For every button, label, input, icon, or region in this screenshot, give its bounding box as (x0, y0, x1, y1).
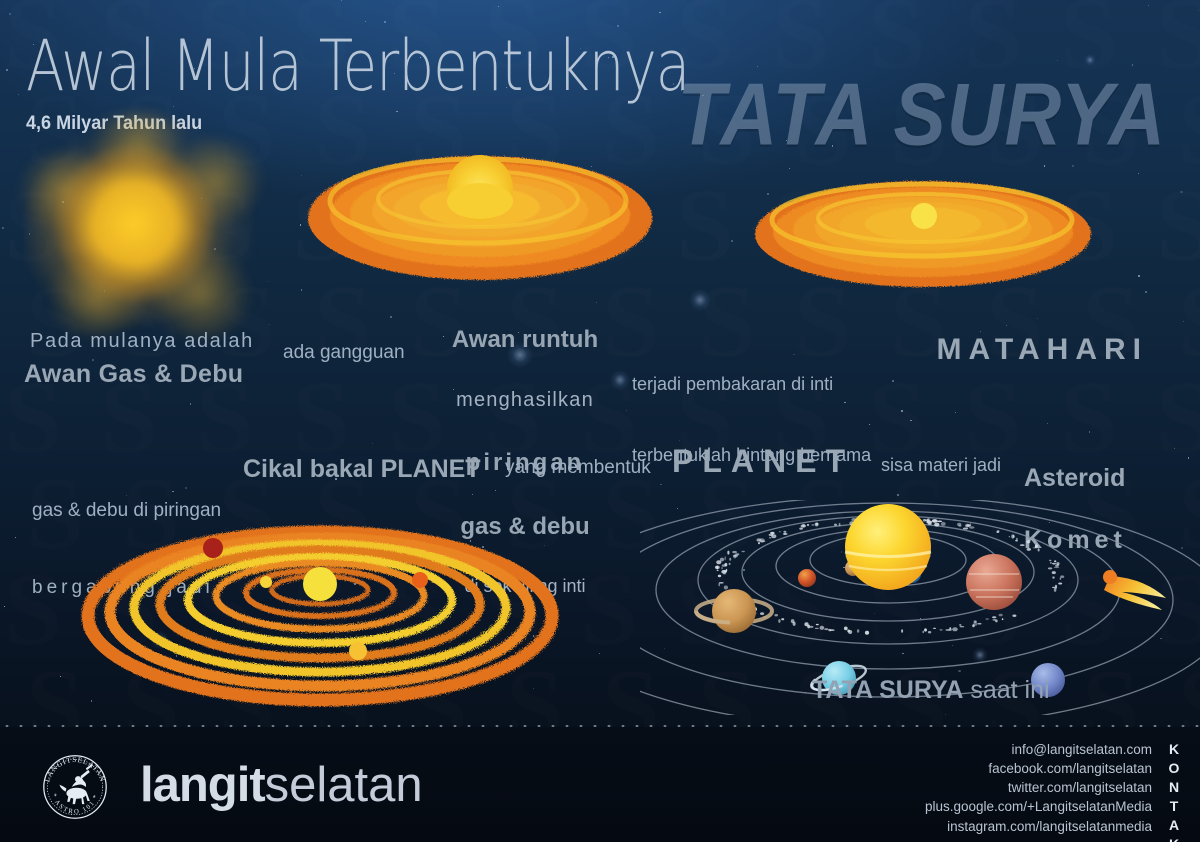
star (365, 21, 366, 22)
stage7-label-asteroid: Asteroid (1024, 464, 1127, 493)
asteroid (729, 558, 731, 561)
asteroid (1060, 575, 1064, 578)
asteroid (770, 532, 774, 535)
gas-cloud-illustration (24, 120, 254, 335)
star (1183, 321, 1184, 322)
asteroid (1015, 540, 1018, 541)
asteroid (940, 629, 943, 630)
infographic-poster: SSSSSSSSSSSSSSSSSSSSSSSSSSSSSSSSSSSSSSSS… (0, 0, 1200, 842)
star (9, 13, 11, 15)
asteroid (717, 565, 718, 569)
star (789, 168, 790, 169)
asteroid (926, 520, 932, 523)
asteroid (963, 528, 968, 530)
asteroid (1050, 562, 1052, 564)
asteroid (1009, 536, 1010, 537)
kontak-vertical-label: KONTAK (1166, 740, 1182, 842)
system-caption: TATA SURYA saat ini (812, 676, 1050, 705)
asteroid (781, 618, 784, 620)
star (6, 69, 8, 71)
asteroid (928, 631, 931, 633)
contact-line-3[interactable]: twitter.com/langitselatan (925, 778, 1152, 797)
asteroid (1002, 618, 1004, 620)
asteroid (778, 619, 780, 623)
kontak-letter-5: K (1166, 835, 1182, 842)
asteroid (727, 551, 729, 555)
asteroid (742, 551, 745, 552)
asteroid (1052, 563, 1056, 565)
protoplanet-orange (412, 572, 428, 588)
star (2, 227, 4, 229)
asteroid (799, 528, 803, 530)
star (955, 412, 956, 413)
star (1047, 423, 1048, 424)
asteroid (784, 533, 788, 535)
asteroid (1013, 535, 1015, 538)
kontak-letter-4: A (1166, 816, 1182, 835)
kontak-letter-3: T (1166, 797, 1182, 816)
star (384, 21, 386, 23)
protoplanet-yellow (349, 642, 367, 660)
star (1138, 275, 1140, 277)
star (897, 494, 899, 496)
star (1174, 448, 1175, 449)
asteroid (815, 523, 819, 527)
asteroid (924, 628, 927, 631)
asteroid (1057, 564, 1060, 566)
star (396, 111, 397, 112)
asteroid (966, 524, 970, 527)
asteroid (718, 583, 720, 587)
asteroid (779, 531, 781, 532)
brand-bold: langit (140, 758, 265, 812)
kontak-letter-1: O (1166, 759, 1182, 778)
star (372, 443, 373, 444)
planet-mars (798, 569, 816, 587)
sun (845, 504, 931, 590)
comet (1103, 570, 1166, 610)
asteroid (948, 629, 953, 631)
asteroid (724, 570, 727, 572)
glow-star (689, 289, 711, 311)
asteroid (1060, 578, 1062, 580)
asteroid (1052, 587, 1055, 588)
contact-line-5[interactable]: instagram.com/langitselatanmedia (925, 817, 1152, 836)
asteroid (1049, 560, 1051, 561)
star (190, 403, 192, 405)
star (1037, 318, 1038, 319)
asteroid (820, 626, 825, 630)
asteroid (758, 542, 760, 544)
asteroid (807, 524, 809, 526)
asteroid (934, 523, 939, 527)
asteroid (815, 628, 819, 629)
asteroid (952, 627, 958, 631)
star (4, 606, 5, 607)
star (60, 676, 61, 677)
asteroid (717, 570, 719, 571)
contact-line-2[interactable]: facebook.com/langitselatan (925, 759, 1152, 778)
asteroid (977, 623, 981, 625)
star (390, 316, 392, 318)
contact-line-1[interactable]: info@langitselatan.com (925, 740, 1152, 759)
asteroid (1048, 567, 1052, 569)
star (1006, 325, 1007, 326)
protostar (303, 567, 337, 601)
star (659, 12, 660, 13)
asteroid (810, 626, 814, 628)
star (910, 420, 911, 421)
planet-forming-disk-illustration (70, 498, 570, 718)
star (268, 281, 269, 282)
star (626, 410, 627, 411)
asteroid (828, 629, 831, 631)
asteroid (1033, 547, 1037, 548)
protoplanetary-disk-collapsing (300, 143, 660, 293)
star (269, 324, 270, 325)
stage4-caption: terjadi pembakaran di inti terbentuklah … (632, 325, 871, 515)
asteroid (1058, 583, 1062, 585)
star (1148, 5, 1149, 6)
asteroid (999, 614, 1003, 617)
protoplanet-inner (260, 576, 272, 588)
stage5-label: Cikal bakal PLANET (243, 455, 481, 484)
asteroid (1054, 567, 1059, 569)
star (15, 537, 16, 538)
stage6-connector: yang membentuk (505, 457, 651, 479)
emblem-centaur (59, 764, 93, 805)
system-caption-light: saat ini (963, 676, 1049, 704)
asteroid (937, 521, 942, 523)
asteroid (801, 524, 806, 527)
system-caption-bold: TATA SURYA (812, 676, 963, 704)
stage1-caption-line1: Pada mulanya adalah (30, 330, 254, 353)
contact-list: info@langitselatan.comfacebook.com/langi… (925, 740, 1152, 836)
asteroid (834, 524, 837, 526)
protoplanetary-disk-with-star (748, 172, 1098, 297)
planet-jupiter (966, 554, 1022, 610)
asteroid (922, 631, 924, 634)
stage3-line2: menghasilkan (430, 389, 620, 412)
asteroid (958, 525, 961, 527)
big-title: TATA SURYA (677, 64, 1166, 166)
asteroid (1052, 571, 1056, 574)
asteroid (724, 586, 728, 590)
asteroid (1038, 548, 1040, 551)
page-title: Awal Mula Terbentuknya (26, 24, 689, 107)
asteroid (932, 519, 938, 523)
stage1-caption-line2: Awan Gas & Debu (24, 360, 243, 389)
asteroid (760, 612, 764, 615)
asteroid (1055, 585, 1057, 589)
asteroid (941, 522, 946, 526)
star (341, 0, 342, 1)
asteroid (986, 618, 989, 620)
asteroid (933, 628, 936, 629)
asteroid (923, 519, 926, 522)
asteroid (807, 625, 810, 629)
asteroid (824, 628, 828, 630)
star (498, 6, 499, 7)
asteroid (732, 551, 737, 553)
asteroid (783, 531, 786, 533)
asteroid (1027, 540, 1031, 543)
asteroid (724, 556, 726, 560)
asteroid (997, 530, 1000, 532)
asteroid (811, 524, 814, 526)
asteroid (1054, 560, 1056, 562)
star (599, 653, 601, 655)
star (901, 410, 903, 412)
asteroid (844, 627, 848, 631)
asteroid (721, 567, 723, 570)
stage2-caption: ada gangguan (283, 342, 405, 364)
kontak-letter-0: K (1166, 740, 1182, 759)
stage3-line1: Awan runtuh (430, 326, 620, 354)
stage4-label-matahari: MATAHARI (936, 333, 1148, 367)
star (892, 380, 894, 382)
protoplanet-red (203, 538, 223, 558)
star (1057, 60, 1058, 61)
stage4-line1: terjadi pembakaran di inti (632, 373, 871, 397)
star (731, 240, 733, 242)
asteroid (718, 575, 721, 578)
asteroid (959, 624, 961, 625)
asteroid (972, 624, 975, 627)
stage7-connector: sisa materi jadi (881, 455, 1001, 476)
asteroid (716, 560, 721, 564)
kontak-letter-2: N (1166, 778, 1182, 797)
asteroid (774, 614, 778, 616)
asteroid (769, 537, 772, 538)
contact-line-4[interactable]: plus.google.com/+LangitselatanMedia (925, 797, 1152, 816)
stage6-label-planet: PLANET (672, 443, 854, 480)
star (1180, 191, 1182, 193)
asteroid (816, 624, 819, 626)
footer-divider (0, 725, 1200, 727)
star (1145, 291, 1147, 293)
asteroid (960, 626, 965, 627)
asteroid (761, 540, 766, 542)
star (18, 94, 20, 96)
asteroid (857, 629, 859, 632)
star (1188, 457, 1189, 458)
svg-text:LANGITSELATAN: LANGITSELATAN (42, 755, 107, 783)
asteroid (722, 564, 727, 567)
brand-wordmark: langitselatan (140, 757, 423, 813)
asteroid (729, 563, 731, 565)
asteroid (1027, 548, 1031, 551)
asteroid (969, 526, 974, 528)
asteroid (723, 573, 726, 574)
asteroid (993, 619, 997, 620)
asteroid (865, 631, 869, 635)
asteroid (1020, 545, 1025, 547)
star (1198, 10, 1199, 11)
langitselatan-logo-icon: LANGITSELATAN * ASTRO 101 * (36, 748, 114, 826)
brand-light: selatan (265, 758, 423, 812)
asteroid (733, 554, 736, 558)
emblem-top-text: LANGITSELATAN (42, 755, 107, 783)
star (1138, 173, 1139, 174)
asteroid (839, 523, 841, 526)
asteroid (793, 622, 796, 626)
asteroid (992, 616, 996, 618)
asteroid (848, 630, 852, 634)
asteroid (1052, 576, 1054, 578)
asteroid (1012, 615, 1016, 617)
asteroid (901, 629, 903, 633)
